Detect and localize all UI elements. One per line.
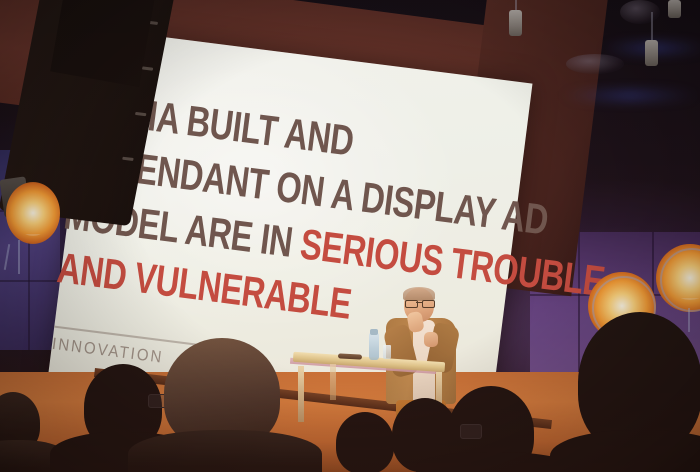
audience-shoulders-3 [128,430,322,472]
audience-head-4 [336,412,394,472]
water-bottle [369,333,379,360]
table-leg-front-left [298,366,304,422]
audience-shoulders-6 [416,452,572,472]
pendant-lamp-3 [668,0,681,18]
pendant-lamp-1 [509,10,522,36]
ceiling-blue-light-streak-2 [560,92,700,99]
audience-glasses-icon-2 [460,424,482,439]
water-bottle-cap [370,329,378,335]
speaker-hair [403,287,435,301]
table-leg-back [330,364,336,400]
fresnel-lens-left [14,190,52,236]
pendant-lamp-2 [645,40,658,66]
speaker-glasses-icon [405,300,433,306]
drinking-glass [383,345,391,359]
ceiling-fixture-disc [566,54,624,74]
speaker-second-hand [424,332,438,347]
conference-photo: MEDIA BUILT AND DEPENDANT ON A DISPLAY A… [0,0,700,472]
ceiling-fixture-disc-2 [620,0,660,24]
pendant-cord-2 [651,12,653,42]
